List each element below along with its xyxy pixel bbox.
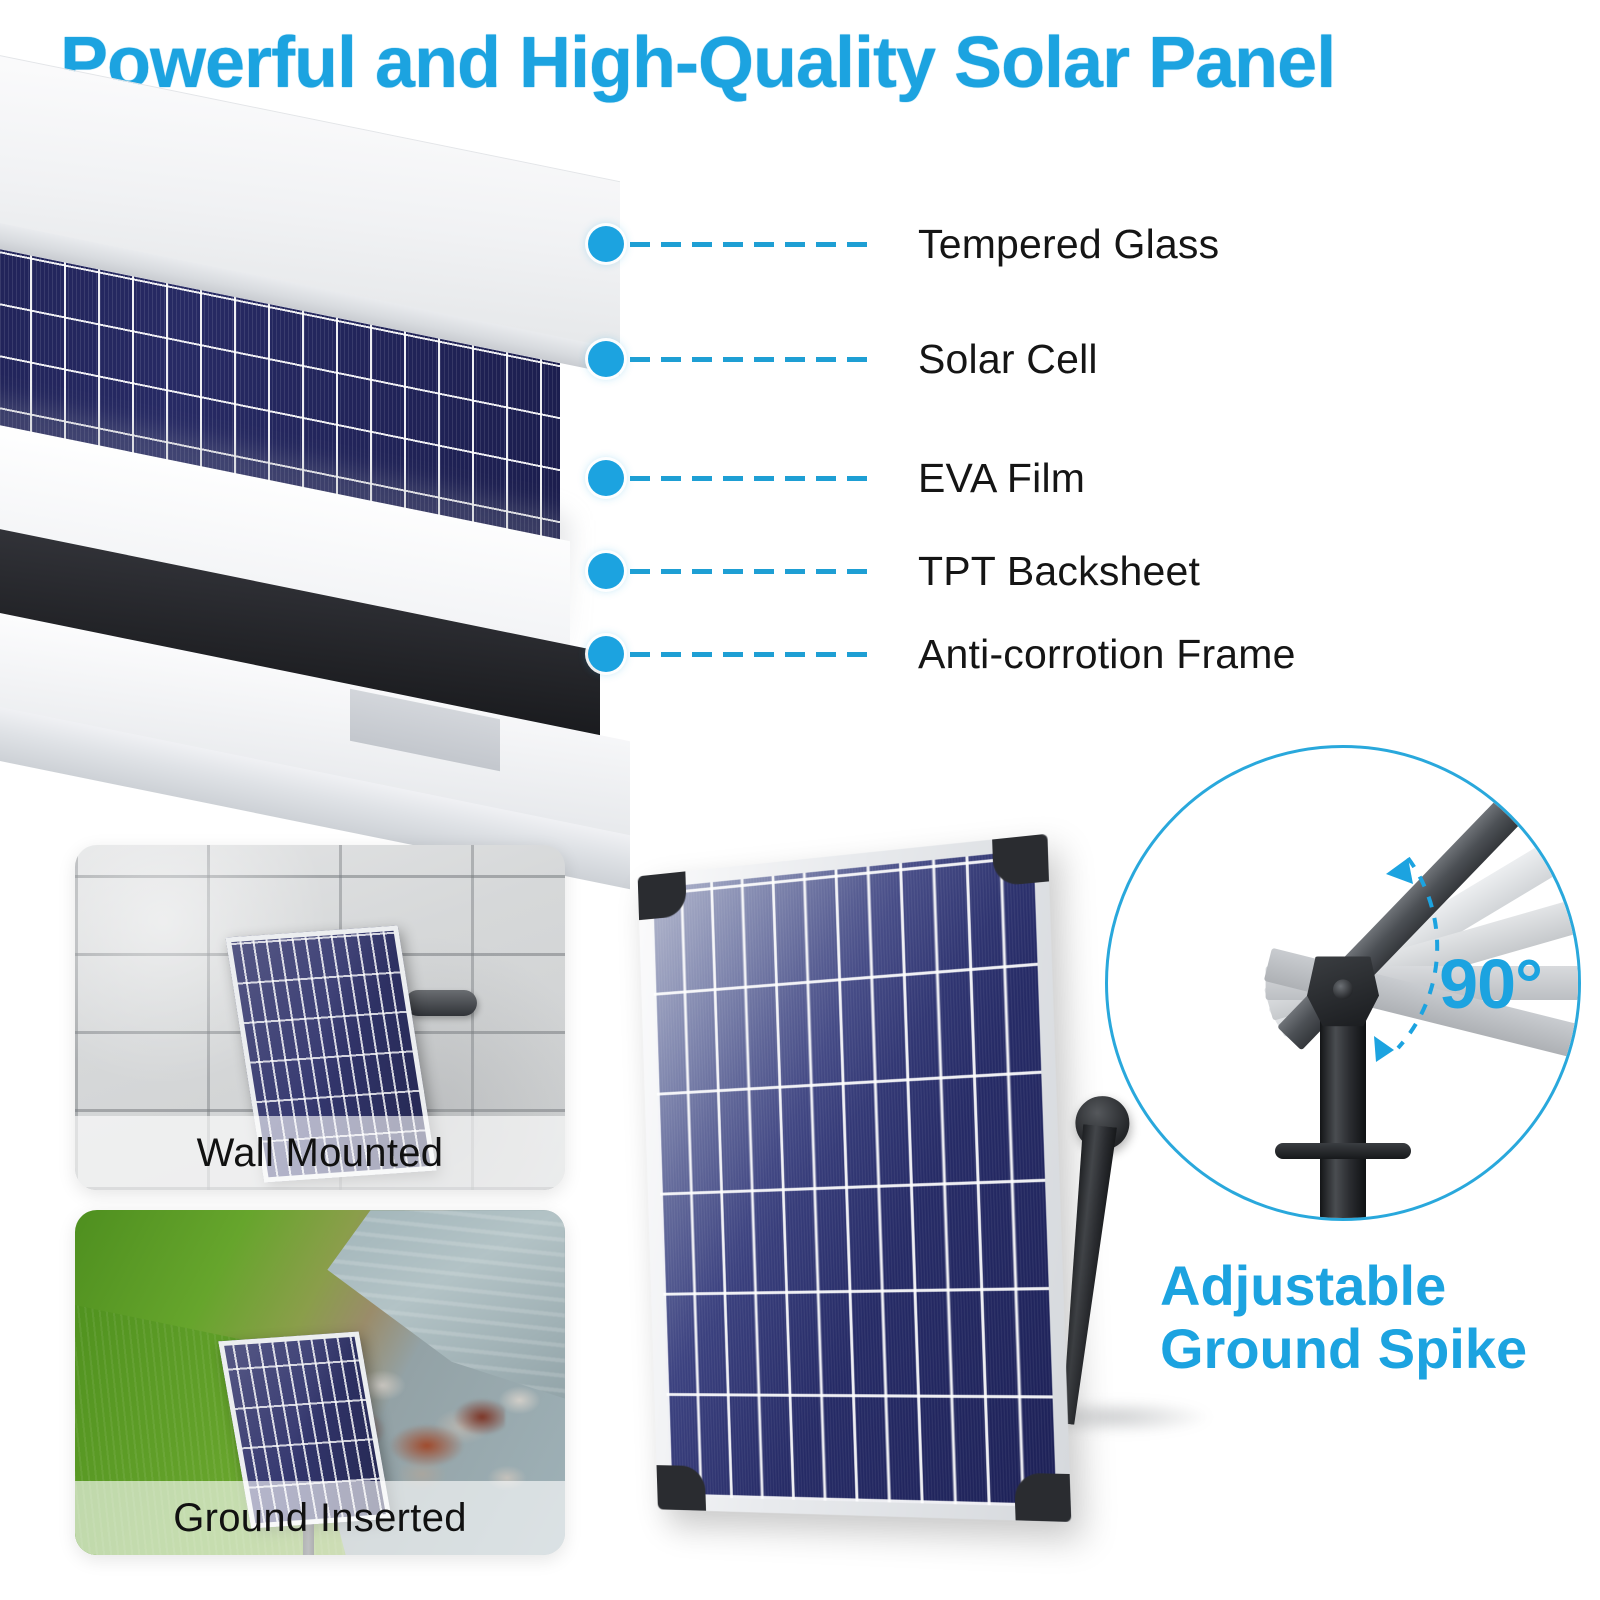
callout-dashed-line xyxy=(630,357,876,362)
callout-dot-icon xyxy=(588,553,624,589)
main-solar-panel xyxy=(638,834,1072,1522)
angle-detail-inset: 90° xyxy=(1105,745,1581,1221)
panel-cell-grid xyxy=(650,850,1056,1507)
callout-tpt-backsheet: TPT Backsheet xyxy=(588,551,1200,591)
callout-dot-icon xyxy=(588,460,624,496)
spike-heading-line-1: Adjustable xyxy=(1160,1255,1590,1318)
callout-anti-corrotion-frame: Anti-corrotion Frame xyxy=(588,634,1296,674)
page-title: Powerful and High-Quality Solar Panel xyxy=(60,22,1560,104)
callout-dot-icon xyxy=(588,636,624,672)
callout-dashed-line xyxy=(630,242,876,247)
callout-dashed-line xyxy=(630,569,876,574)
caption-band: Wall Mounted xyxy=(75,1116,565,1190)
callout-dashed-line xyxy=(630,652,876,657)
angle-value-label: 90° xyxy=(1439,944,1542,1024)
callout-eva-film: EVA Film xyxy=(588,458,1085,498)
spike-heading-line-2: Ground Spike xyxy=(1160,1318,1590,1381)
callout-label: Tempered Glass xyxy=(918,221,1219,268)
callout-tempered-glass: Tempered Glass xyxy=(588,224,1219,264)
callout-dot-icon xyxy=(588,226,624,262)
panel-aluminum-frame xyxy=(638,834,1072,1522)
callout-dot-icon xyxy=(588,341,624,377)
callout-label: Solar Cell xyxy=(918,336,1098,383)
photo-card-wall-mounted: Wall Mounted xyxy=(75,845,565,1190)
spike-feature-heading: Adjustable Ground Spike xyxy=(1160,1255,1590,1380)
callout-dashed-line xyxy=(630,476,876,481)
caption-band: Ground Inserted xyxy=(75,1481,565,1555)
callout-label: Anti-corrotion Frame xyxy=(918,631,1296,678)
callout-label: TPT Backsheet xyxy=(918,548,1200,595)
photo-caption: Wall Mounted xyxy=(197,1131,444,1176)
infographic-canvas: Powerful and High-Quality Solar Panel xyxy=(0,0,1600,1600)
photo-caption: Ground Inserted xyxy=(173,1496,467,1541)
callout-solar-cell: Solar Cell xyxy=(588,339,1098,379)
photo-card-ground-inserted: Ground Inserted xyxy=(75,1210,565,1555)
wall-mount-bracket xyxy=(405,990,477,1016)
callout-label: EVA Film xyxy=(918,455,1085,502)
